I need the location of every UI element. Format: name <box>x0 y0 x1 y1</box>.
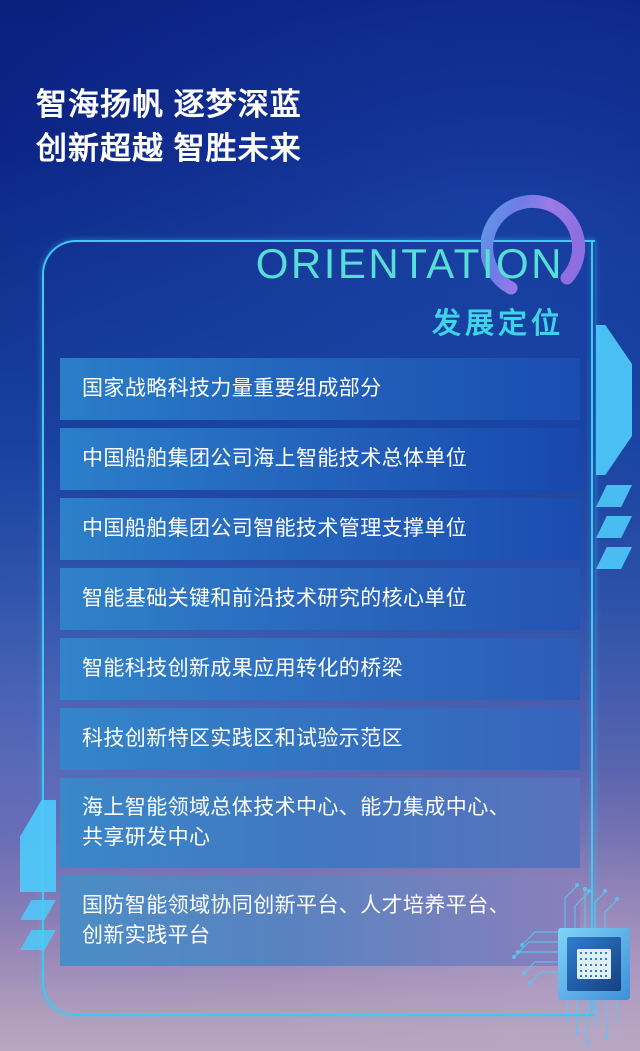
chevron-small-icon <box>596 547 632 569</box>
orientation-list: 国家战略科技力量重要组成部分 中国船舶集团公司海上智能技术总体单位 中国船舶集团… <box>60 358 580 974</box>
list-item[interactable]: 海上智能领域总体技术中心、能力集成中心、 共享研发中心 <box>60 778 580 868</box>
list-item-line-1: 智能科技创新成果应用转化的桥梁 <box>82 654 558 684</box>
list-item[interactable]: 智能基础关键和前沿技术研究的核心单位 <box>60 568 580 630</box>
list-item[interactable]: 中国船舶集团公司海上智能技术总体单位 <box>60 428 580 490</box>
list-item-line-1: 科技创新特区实践区和试验示范区 <box>82 724 558 754</box>
list-item-line-1: 国家战略科技力量重要组成部分 <box>82 374 558 404</box>
list-item[interactable]: 智能科技创新成果应用转化的桥梁 <box>60 638 580 700</box>
chevron-small-icon <box>596 485 632 507</box>
list-item-line-2: 创新实践平台 <box>82 921 558 951</box>
list-item-line-1: 中国船舶集团公司智能技术管理支撑单位 <box>82 514 558 544</box>
headline-line-2: 创新超越 智胜未来 <box>36 127 556 171</box>
page-title: 智海扬帆 逐梦深蓝 创新超越 智胜未来 <box>36 83 556 171</box>
list-item-line-1: 国防智能领域协同创新平台、人才培养平台、 <box>82 891 558 921</box>
cpu-chip-icon <box>558 928 630 1000</box>
list-item[interactable]: 国防智能领域协同创新平台、人才培养平台、 创新实践平台 <box>60 876 580 966</box>
list-item-line-1: 中国船舶集团公司海上智能技术总体单位 <box>82 444 558 474</box>
content-frame-right-edge <box>591 240 593 1012</box>
list-item-line-1: 海上智能领域总体技术中心、能力集成中心、 <box>82 793 558 823</box>
list-item-line-2: 共享研发中心 <box>82 823 558 853</box>
poster-root: 智海扬帆 逐梦深蓝 创新超越 智胜未来 ORIENTATION 发展定位 国家战… <box>0 0 640 1051</box>
left-chevron-large-icon <box>20 800 56 892</box>
list-item[interactable]: 科技创新特区实践区和试验示范区 <box>60 708 580 770</box>
section-title-chinese: 发展定位 <box>0 300 564 342</box>
chevron-small-icon <box>596 516 632 538</box>
list-item-line-1: 智能基础关键和前沿技术研究的核心单位 <box>82 584 558 614</box>
section-title-english: ORIENTATION <box>0 240 564 288</box>
headline-line-1: 智海扬帆 逐梦深蓝 <box>36 83 556 127</box>
chevron-large-icon <box>596 325 632 475</box>
list-item[interactable]: 国家战略科技力量重要组成部分 <box>60 358 580 420</box>
list-item[interactable]: 中国船舶集团公司智能技术管理支撑单位 <box>60 498 580 560</box>
